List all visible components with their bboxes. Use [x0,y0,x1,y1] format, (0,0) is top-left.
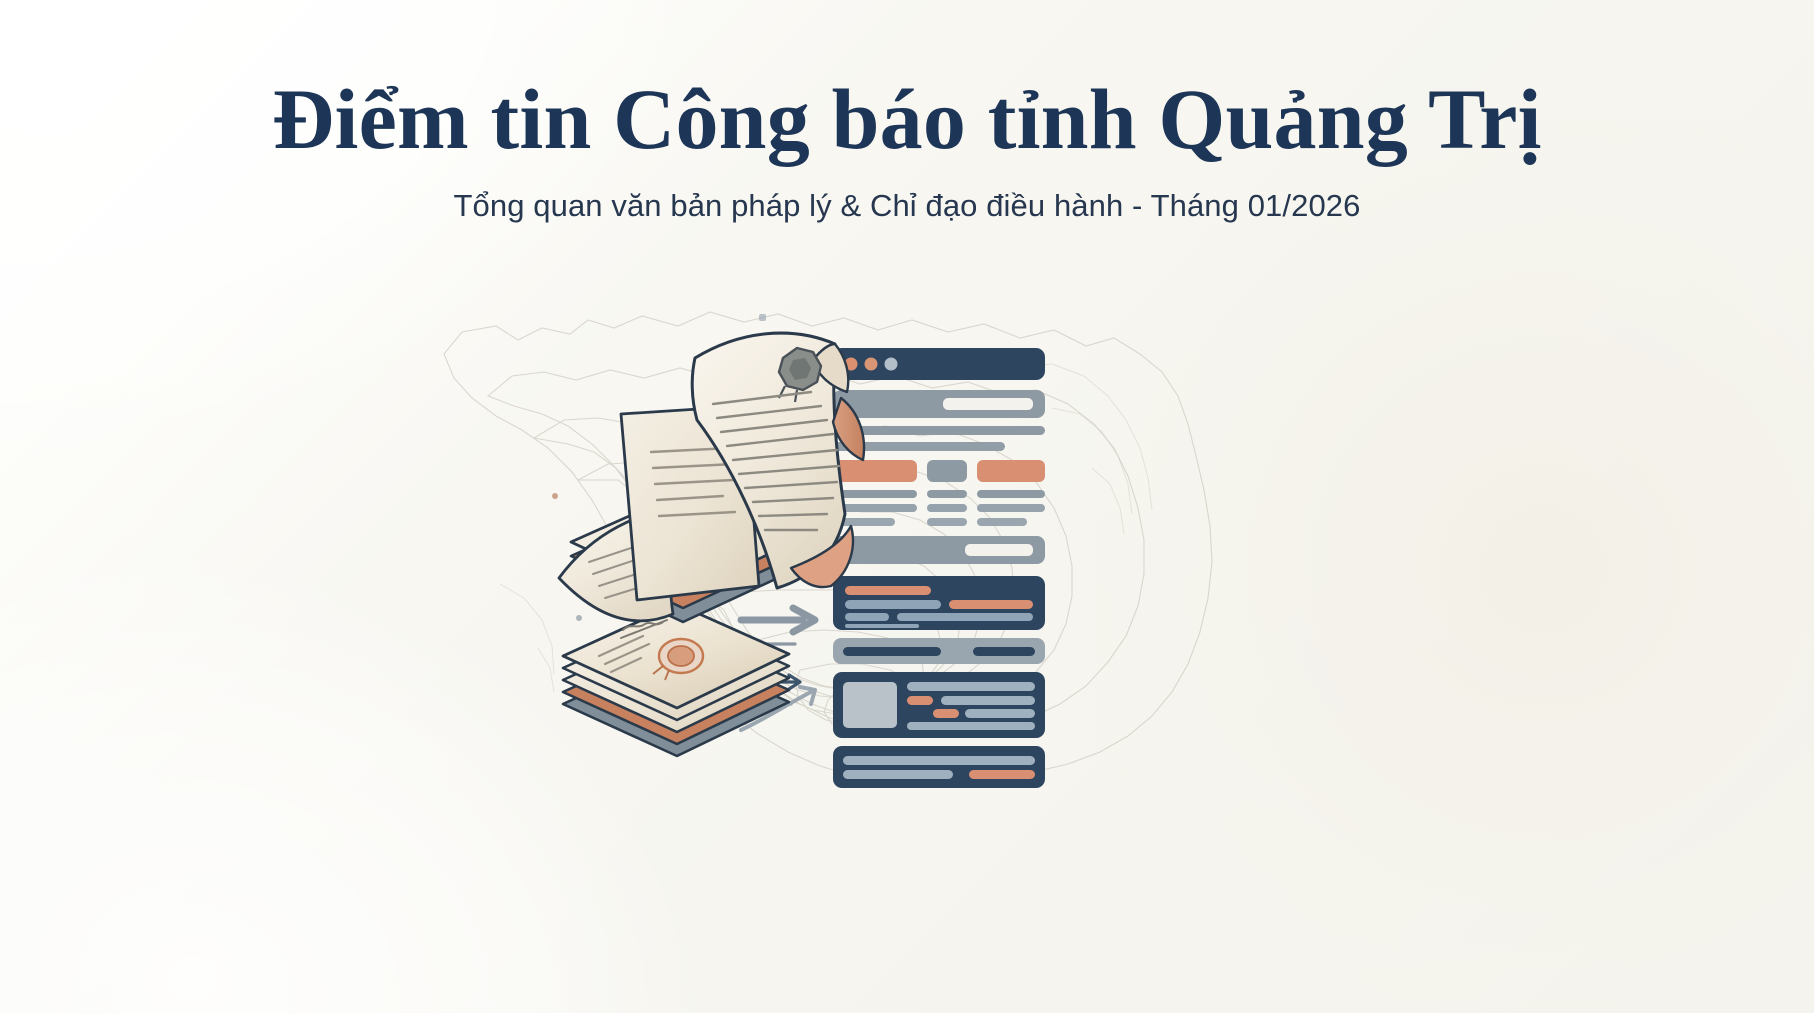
paper-to-digital-illustration [545,300,1085,860]
arrow-solid-mid [741,608,815,632]
search-bar-card[interactable] [833,390,1045,418]
hero-illustration [545,300,1085,860]
stack-bottom-block [563,604,789,756]
browser-window-card[interactable] [833,348,1045,380]
slide-canvas: Điểm tin Công báo tỉnh Quảng Trị Tổng qu… [0,0,1814,1013]
toolbar-card[interactable] [833,536,1045,564]
page-subtitle: Tổng quan văn bản pháp lý & Chỉ đạo điều… [0,187,1814,226]
background-wash-warm [1094,120,1814,1013]
three-column-card[interactable] [833,460,1045,526]
slide-header: Điểm tin Công báo tỉnh Quảng Trị Tổng qu… [0,74,1814,226]
page-title: Điểm tin Công báo tỉnh Quảng Trị [0,74,1814,165]
slim-bar-card[interactable] [833,638,1045,664]
footer-card-dark[interactable] [833,746,1045,788]
document-stack [552,314,864,756]
detail-card-dark[interactable] [833,576,1045,630]
digital-documents-group [833,348,1045,788]
media-card-dark[interactable] [833,672,1045,738]
